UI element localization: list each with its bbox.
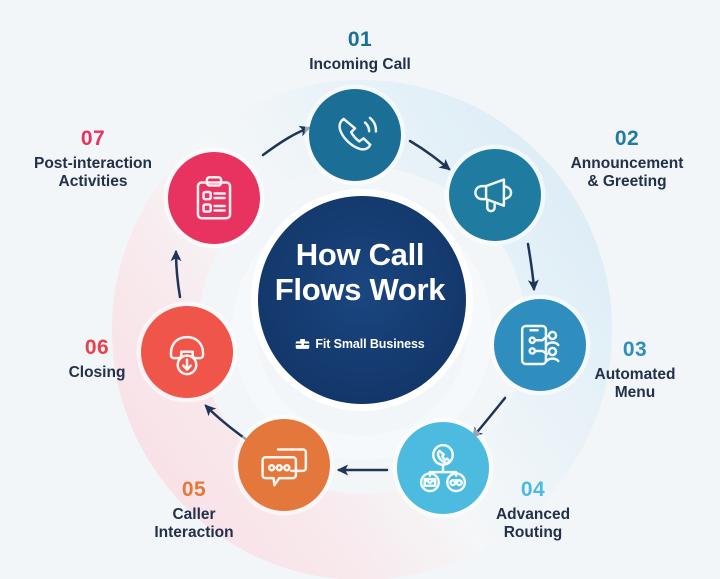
step-label-07: 07Post-interaction Activities [0,127,193,191]
step-label-05: 05Caller Interaction [94,478,294,542]
step-number: 03 [535,338,720,363]
infographic-canvas: How Call Flows Work Fit Small Business 0… [0,0,720,579]
step-number: 02 [527,127,720,152]
brand-logo: Fit Small Business [240,337,480,351]
step-title: Caller Interaction [94,506,294,543]
step-title: Automated Menu [535,366,720,403]
briefcase-icon [295,338,310,350]
step-label-02: 02Announcement & Greeting [527,127,720,191]
step-number: 01 [260,28,460,53]
step-node-circle [309,89,401,181]
center-disc [251,189,473,411]
brand-name: Fit Small Business [315,337,424,351]
step-number: 04 [433,478,633,503]
step-title: Announcement & Greeting [527,155,720,192]
step-label-01: 01Incoming Call [260,28,460,74]
step-title: Incoming Call [260,56,460,74]
step-label-03: 03Automated Menu [535,338,720,402]
step-label-04: 04Advanced Routing [433,478,633,542]
step-title: Closing [0,364,197,382]
step-title: Advanced Routing [433,506,633,543]
step-number: 06 [0,336,197,361]
step-node-01[interactable] [305,85,406,186]
step-title: Post-interaction Activities [0,155,193,192]
step-number: 05 [94,478,294,503]
step-label-06: 06Closing [0,336,197,382]
step-number: 07 [0,127,193,152]
